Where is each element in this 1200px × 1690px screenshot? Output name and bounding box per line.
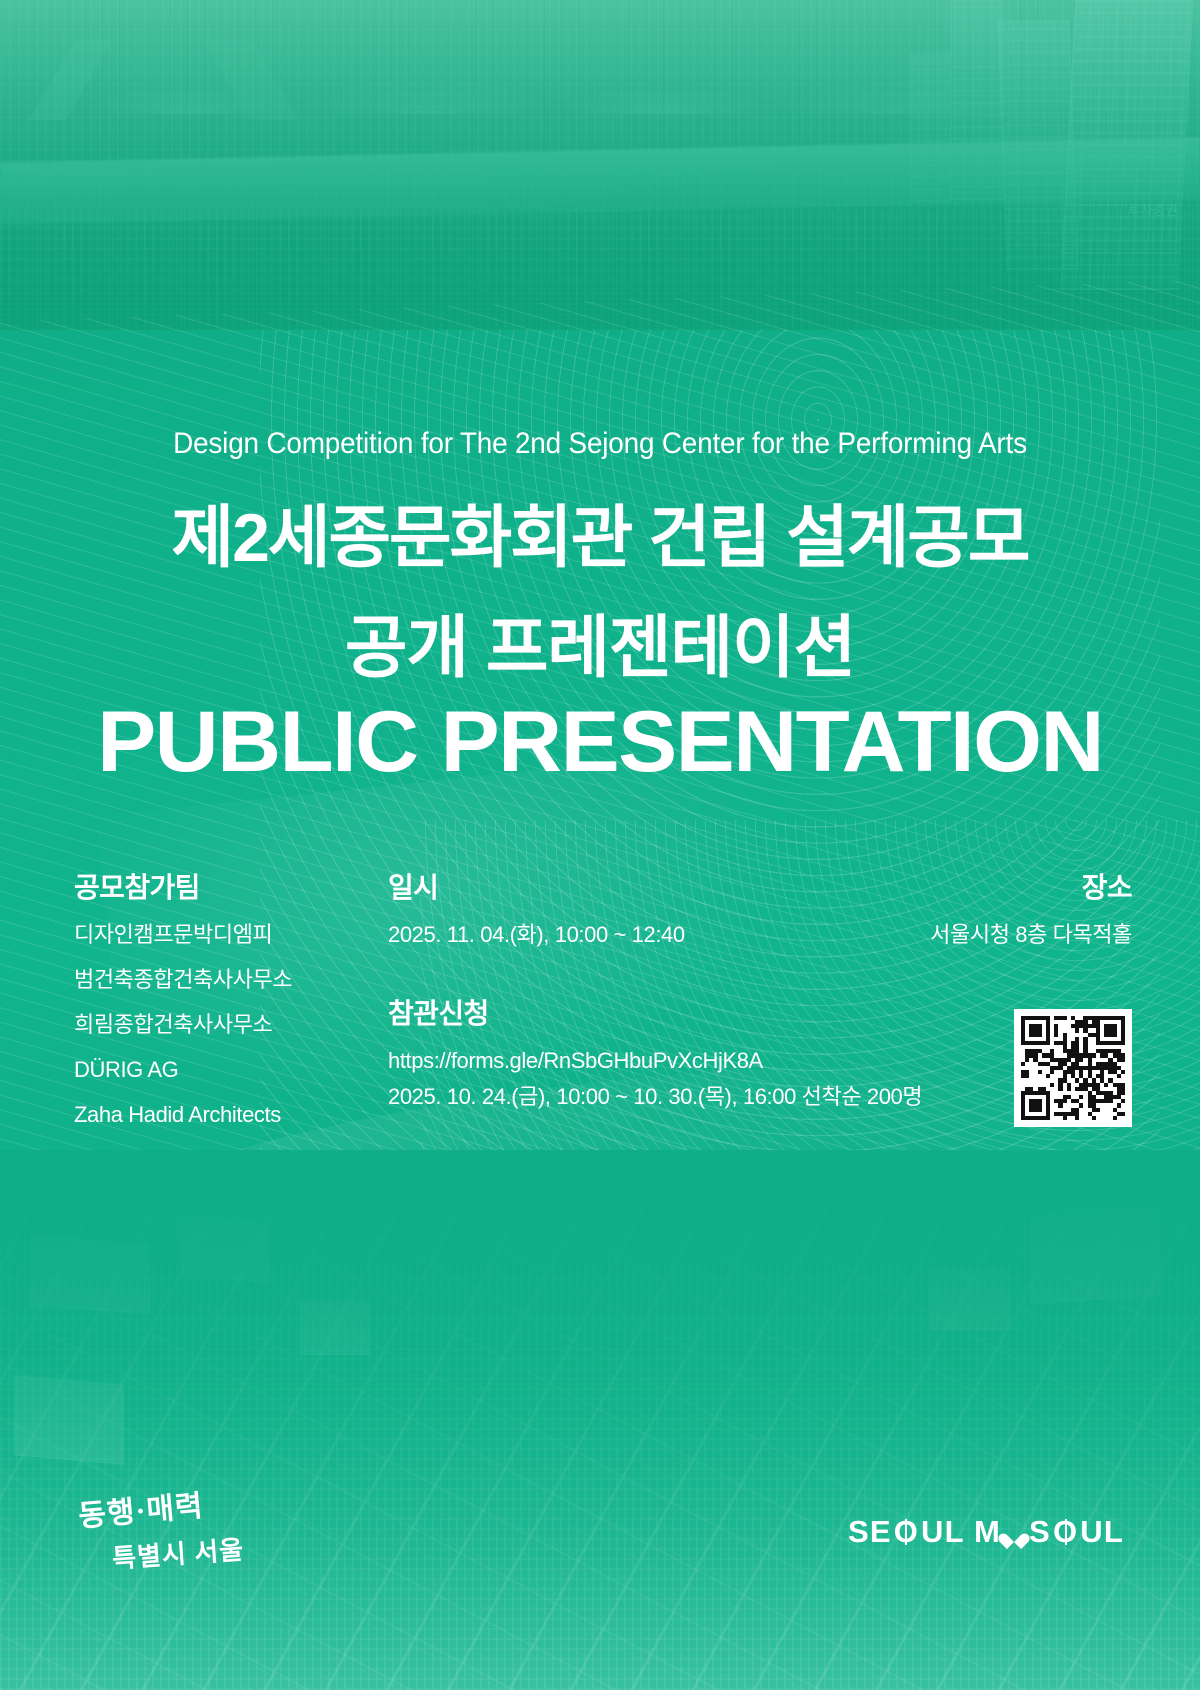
seoul-logo-line1: 동행·매력 [76, 1481, 205, 1536]
aerial-city-photo-bottom [0, 1150, 1200, 1690]
poster-root: 투자증권 Design Competition for The 2nd Sejo… [0, 0, 1200, 1690]
qr-matrix [1021, 1016, 1125, 1120]
seoul-logo-line2: 특별시 서울 [111, 1529, 245, 1575]
seoul-brand-logo: 동행·매력 특별시 서울 [78, 1486, 298, 1572]
venue-column: 장소 서울시청 8층 다목적홀 [792, 866, 1132, 946]
subtitle-english: Design Competition for The 2nd Sejong Ce… [42, 427, 1158, 461]
venue-value: 서울시청 8층 다목적홀 [792, 924, 1132, 946]
application-period: 2025. 10. 24.(금), 10:00 ~ 10. 30.(목), 16… [388, 1086, 948, 1108]
seoul-my-soul-logo: SEOUL M SOUL [848, 1514, 1124, 1550]
green-duotone-veil-bottom [0, 1150, 1200, 1690]
team-item: DÜRIG AG [74, 1059, 364, 1081]
venue-heading: 장소 [792, 866, 1132, 906]
participating-teams-column: 공모참가팀 디자인캠프문박디엠피 범건축종합건축사사무소 희림종합건축사사무소 … [74, 866, 364, 1126]
o-slash-glyph-2: O [1053, 1514, 1078, 1550]
qr-code[interactable] [1014, 1009, 1132, 1127]
application-heading: 참관신청 [388, 992, 948, 1032]
team-item: Zaha Hadid Architects [74, 1104, 364, 1126]
slogan-part-2: UL M [921, 1514, 1001, 1550]
title-english: PUBLIC PRESENTATION [0, 693, 1200, 792]
o-slash-glyph: O [894, 1514, 919, 1550]
slogan-part-4: UL [1080, 1514, 1124, 1550]
team-item: 희림종합건축사사무소 [74, 1014, 364, 1036]
slogan-part-1: SE [848, 1514, 892, 1550]
team-item: 범건축종합건축사사무소 [74, 969, 364, 991]
title-korean-line1: 제2세종문화회관 건립 설계공모 [0, 482, 1200, 581]
teams-heading: 공모참가팀 [74, 866, 364, 906]
slogan-part-3: S [1029, 1514, 1051, 1550]
heart-icon [1005, 1525, 1024, 1544]
team-item: 디자인캠프문박디엠피 [74, 924, 364, 946]
application-url[interactable]: https://forms.gle/RnSbGHbuPvXcHjK8A [388, 1050, 948, 1072]
title-korean-line2: 공개 프레젠테이션 [0, 592, 1200, 691]
